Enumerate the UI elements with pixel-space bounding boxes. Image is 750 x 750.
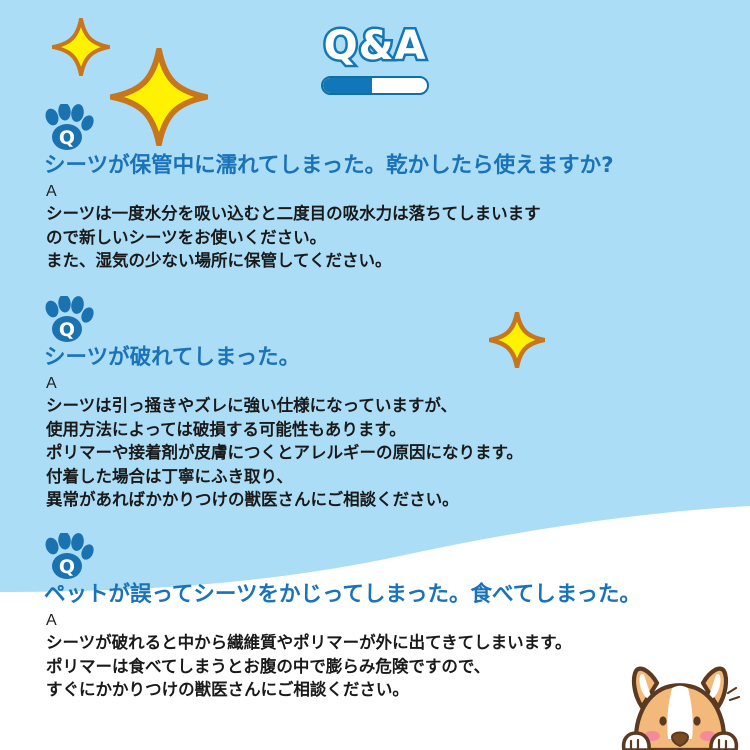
answer-line: すぐにかかりつけの獣医さんにご相談ください。	[46, 678, 641, 701]
qa-item-2: Q シーツが破れてしまった。 A シーツは引っ掻きやズレに強い仕様になっています…	[42, 296, 523, 512]
answer-line: ポリマーや接着剤が皮膚につくとアレルギーの原因になります。	[46, 441, 523, 464]
answer-line: また、湿気の少ない場所に保管してください。	[46, 249, 614, 272]
page-title: Q&A	[0, 24, 750, 68]
question-text: ペットが誤ってシーツをかじってしまった。食べてしまった。	[44, 582, 641, 609]
answer-line: 付着した場合は丁寧にふき取り、	[46, 465, 523, 488]
paw-icon-letter: Q	[59, 127, 75, 149]
answer-line: ポリマーは食べてしまうとお腹の中で膨らみ危険ですので、	[46, 655, 641, 678]
paw-q-icon: Q	[42, 104, 94, 152]
answer-line: 使用方法によっては破損する可能性もあります。	[46, 418, 523, 441]
qa-item-1: Q シーツが保管中に濡れてしまった。乾かしたら使えますか? A シーツは一度水分…	[42, 104, 614, 273]
answer-line: シーツが破れると中から繊維質やポリマーが外に出てきてしまいます。	[46, 631, 641, 654]
page-header: Q&A	[0, 24, 750, 95]
paw-icon-letter: Q	[59, 319, 75, 341]
paw-icon-letter: Q	[59, 556, 75, 578]
paw-q-icon: Q	[42, 533, 94, 581]
answer-label: A	[46, 610, 641, 632]
answer-line: シーツは引っ掻きやズレに強い仕様になっていますが、	[46, 394, 523, 417]
question-text: シーツが保管中に濡れてしまった。乾かしたら使えますか?	[44, 153, 614, 180]
title-progress-bar	[321, 76, 429, 95]
answer-label: A	[46, 373, 523, 395]
answer-line: シーツは一度水分を吸い込むと二度目の吸水力は落ちてしまいます	[46, 202, 614, 225]
answer-label: A	[46, 181, 614, 203]
paw-q-icon: Q	[42, 296, 94, 344]
title-progress-fill	[323, 78, 372, 93]
qa-item-3: Q ペットが誤ってシーツをかじってしまった。食べてしまった。 A シーツが破れる…	[42, 533, 641, 702]
answer-line: ので新しいシーツをお使いください。	[46, 226, 614, 249]
answer-line: 異常があればかかりつけの獣医さんにご相談ください。	[46, 488, 523, 511]
question-text: シーツが破れてしまった。	[44, 345, 523, 372]
qa-page: Q&A Q シーツが保管中に濡れてしまった。乾かしたら使えますか? A シーツは…	[0, 0, 750, 750]
